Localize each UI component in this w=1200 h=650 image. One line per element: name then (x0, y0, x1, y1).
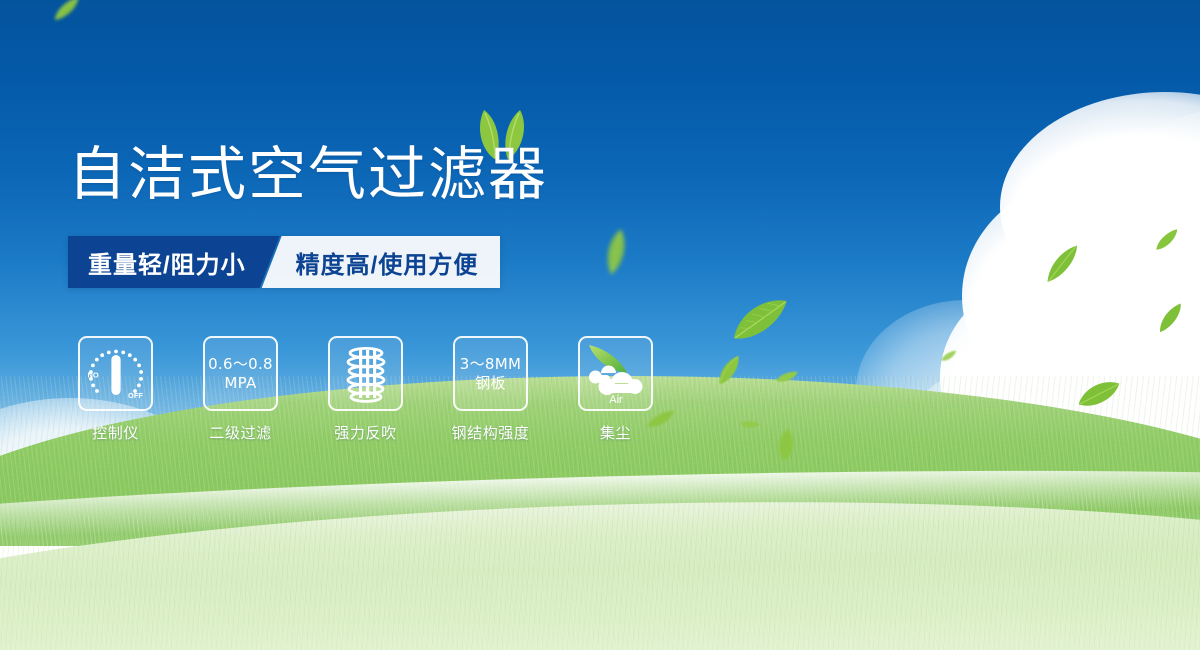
steel-plate-text-icon: 3～8MM 钢板 (453, 336, 528, 411)
page-title: 自洁式空气过滤器 (68, 142, 548, 207)
feature-item-steel-strength[interactable]: 3～8MM 钢板 钢结构强度 (453, 336, 528, 443)
feature-item-two-stage-filter[interactable]: 0.6～0.8 MPA 二级过滤 (203, 336, 278, 443)
subtitle-bar: 重量轻/阻力小 精度高/使用方便 (68, 236, 500, 288)
feature-item-dust-collection[interactable]: Air 集尘 (578, 336, 653, 443)
feature-label: 钢结构强度 (452, 422, 530, 443)
cloud-air-icon: Air (578, 336, 653, 411)
feature-label: 集尘 (600, 422, 631, 443)
steel-plate-text: 钢板 (460, 374, 521, 392)
gauge-no-label: NO (87, 370, 98, 379)
air-text: Air (609, 394, 623, 406)
feature-label: 二级过滤 (209, 422, 271, 443)
feature-item-reverse-blow[interactable]: 强力反吹 (328, 336, 403, 443)
pressure-range-text: 0.6～0.8 (208, 355, 273, 373)
gauge-off-label: OFF (128, 391, 143, 400)
gauge-icon: NO OFF (78, 336, 153, 411)
pressure-text-icon: 0.6～0.8 MPA (203, 336, 278, 411)
feature-label: 强力反吹 (334, 422, 396, 443)
feature-label: 控制仪 (92, 422, 139, 443)
filter-stack-icon (328, 336, 403, 411)
steel-thickness-text: 3～8MM (460, 355, 521, 373)
feature-list: NO OFF 控制仪 0.6～0.8 MPA 二级过滤 (78, 336, 653, 443)
subtitle-right-tag: 精度高/使用方便 (262, 236, 501, 288)
feature-item-control-gauge[interactable]: NO OFF 控制仪 (78, 336, 153, 443)
product-banner: 自洁式空气过滤器 重量轻/阻力小 精度高/使用方便 (0, 0, 1200, 650)
banner-content: 自洁式空气过滤器 重量轻/阻力小 精度高/使用方便 (0, 0, 1200, 650)
pressure-unit-text: MPA (208, 374, 273, 392)
subtitle-left-tag: 重量轻/阻力小 (68, 236, 280, 288)
